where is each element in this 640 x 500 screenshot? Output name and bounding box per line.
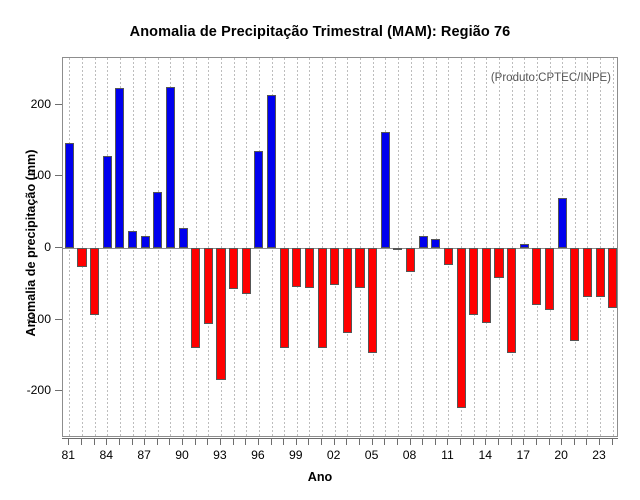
bar-1999 bbox=[292, 248, 301, 287]
bar-2022 bbox=[583, 248, 592, 297]
x-tick bbox=[308, 438, 309, 445]
gridline bbox=[82, 58, 83, 436]
bar-2000 bbox=[305, 248, 314, 288]
y-axis-label: Anomalia de precipitação (mm) bbox=[24, 108, 38, 378]
x-tick bbox=[132, 438, 133, 445]
x-tick bbox=[144, 438, 145, 445]
gridline bbox=[575, 58, 576, 436]
x-tick-label: 93 bbox=[213, 448, 227, 462]
x-tick bbox=[422, 438, 423, 445]
bar-1985 bbox=[115, 88, 124, 248]
chart-root: Anomalia de Precipitação Trimestral (MAM… bbox=[0, 0, 640, 500]
x-tick bbox=[334, 438, 335, 445]
y-tick-label: -100 bbox=[27, 312, 51, 326]
x-tick bbox=[498, 438, 499, 445]
x-tick bbox=[233, 438, 234, 445]
bar-2019 bbox=[545, 248, 554, 310]
gridline bbox=[309, 58, 310, 436]
bar-1989 bbox=[166, 87, 175, 248]
bar-1998 bbox=[280, 248, 289, 348]
bar-1997 bbox=[267, 95, 276, 248]
gridline bbox=[322, 58, 323, 436]
bar-2007 bbox=[393, 248, 402, 250]
gridline bbox=[600, 58, 601, 436]
x-tick bbox=[182, 438, 183, 445]
y-tick-label: 200 bbox=[31, 97, 51, 111]
x-tick bbox=[485, 438, 486, 445]
gridline bbox=[512, 58, 513, 436]
bar-1984 bbox=[103, 156, 112, 248]
gridline bbox=[234, 58, 235, 436]
gridline bbox=[486, 58, 487, 436]
gridline bbox=[537, 58, 538, 436]
x-tick bbox=[460, 438, 461, 445]
x-tick bbox=[245, 438, 246, 445]
bar-2003 bbox=[343, 248, 352, 333]
x-tick bbox=[157, 438, 158, 445]
x-tick bbox=[359, 438, 360, 445]
y-tick-label: -200 bbox=[27, 383, 51, 397]
gridline bbox=[196, 58, 197, 436]
gridline bbox=[297, 58, 298, 436]
x-tick-label: 87 bbox=[137, 448, 151, 462]
x-tick-label: 96 bbox=[251, 448, 265, 462]
x-tick-label: 99 bbox=[289, 448, 303, 462]
bar-2008 bbox=[406, 248, 415, 272]
source-annotation: (Produto:CPTEC/INPE) bbox=[491, 72, 611, 84]
y-tick bbox=[55, 104, 62, 105]
x-tick bbox=[410, 438, 411, 445]
bar-1991 bbox=[191, 248, 200, 348]
x-tick bbox=[296, 438, 297, 445]
x-tick-label: 17 bbox=[516, 448, 530, 462]
x-tick bbox=[435, 438, 436, 445]
bar-1995 bbox=[242, 248, 251, 294]
bar-2012 bbox=[457, 248, 466, 408]
bar-2004 bbox=[355, 248, 364, 288]
x-tick bbox=[258, 438, 259, 445]
bar-2014 bbox=[482, 248, 491, 323]
x-tick bbox=[169, 438, 170, 445]
x-tick bbox=[195, 438, 196, 445]
y-tick bbox=[55, 247, 62, 248]
gridline bbox=[335, 58, 336, 436]
bar-2001 bbox=[318, 248, 327, 348]
x-tick bbox=[119, 438, 120, 445]
bar-2021 bbox=[570, 248, 579, 341]
x-tick bbox=[207, 438, 208, 445]
gridline bbox=[398, 58, 399, 436]
bar-2018 bbox=[532, 248, 541, 305]
gridline bbox=[284, 58, 285, 436]
y-tick-label: 0 bbox=[44, 240, 51, 254]
bar-2020 bbox=[558, 198, 567, 248]
x-tick bbox=[447, 438, 448, 445]
bar-2006 bbox=[381, 132, 390, 248]
x-tick-label: 05 bbox=[365, 448, 379, 462]
gridline bbox=[587, 58, 588, 436]
x-tick bbox=[106, 438, 107, 445]
x-tick bbox=[283, 438, 284, 445]
bar-2023 bbox=[596, 248, 605, 297]
gridline bbox=[613, 58, 614, 436]
bar-1990 bbox=[179, 228, 188, 248]
gridline bbox=[550, 58, 551, 436]
bar-1996 bbox=[254, 151, 263, 248]
gridline bbox=[360, 58, 361, 436]
bar-1983 bbox=[90, 248, 99, 315]
bar-1994 bbox=[229, 248, 238, 289]
plot-area: (Produto:CPTEC/INPE) bbox=[62, 57, 618, 437]
x-tick bbox=[473, 438, 474, 445]
gridline bbox=[499, 58, 500, 436]
x-tick bbox=[68, 438, 69, 445]
gridline bbox=[208, 58, 209, 436]
x-tick bbox=[549, 438, 550, 445]
bar-2024 bbox=[608, 248, 617, 308]
x-tick bbox=[94, 438, 95, 445]
bar-1992 bbox=[204, 248, 213, 324]
bar-2009 bbox=[419, 236, 428, 248]
gridline bbox=[373, 58, 374, 436]
x-tick bbox=[81, 438, 82, 445]
x-axis-line bbox=[62, 438, 618, 439]
bar-2005 bbox=[368, 248, 377, 353]
x-tick-label: 08 bbox=[403, 448, 417, 462]
x-tick-label: 23 bbox=[592, 448, 606, 462]
gridline bbox=[411, 58, 412, 436]
x-tick bbox=[574, 438, 575, 445]
y-tick bbox=[55, 175, 62, 176]
x-tick-label: 11 bbox=[441, 448, 454, 462]
x-tick bbox=[220, 438, 221, 445]
x-tick bbox=[271, 438, 272, 445]
bar-1987 bbox=[141, 236, 150, 248]
bar-2011 bbox=[444, 248, 453, 265]
gridline bbox=[448, 58, 449, 436]
page-title: Anomalia de Precipitação Trimestral (MAM… bbox=[0, 24, 640, 40]
x-tick bbox=[586, 438, 587, 445]
x-tick bbox=[397, 438, 398, 445]
x-tick bbox=[346, 438, 347, 445]
x-tick-label: 02 bbox=[327, 448, 341, 462]
bar-1981 bbox=[65, 143, 74, 248]
bar-2017 bbox=[520, 244, 529, 248]
gridline bbox=[95, 58, 96, 436]
bar-2010 bbox=[431, 239, 440, 248]
y-tick bbox=[55, 319, 62, 320]
x-axis-label: Ano bbox=[0, 470, 640, 484]
x-tick-label: 81 bbox=[62, 448, 76, 462]
x-tick-label: 90 bbox=[175, 448, 189, 462]
x-tick bbox=[372, 438, 373, 445]
bar-1993 bbox=[216, 248, 225, 380]
gridline bbox=[347, 58, 348, 436]
x-tick bbox=[523, 438, 524, 445]
bar-2015 bbox=[494, 248, 503, 278]
bar-2016 bbox=[507, 248, 516, 353]
gridline bbox=[474, 58, 475, 436]
x-tick-label: 84 bbox=[99, 448, 113, 462]
x-tick-label: 20 bbox=[554, 448, 568, 462]
x-tick bbox=[511, 438, 512, 445]
x-tick bbox=[561, 438, 562, 445]
x-tick bbox=[612, 438, 613, 445]
bar-1988 bbox=[153, 192, 162, 248]
gridline bbox=[246, 58, 247, 436]
x-tick bbox=[384, 438, 385, 445]
bar-2002 bbox=[330, 248, 339, 285]
y-tick-label: 100 bbox=[31, 168, 51, 182]
x-tick-label: 14 bbox=[479, 448, 493, 462]
bar-2013 bbox=[469, 248, 478, 315]
y-tick bbox=[55, 390, 62, 391]
bar-1986 bbox=[128, 231, 137, 248]
x-tick bbox=[536, 438, 537, 445]
x-tick bbox=[321, 438, 322, 445]
bar-1982 bbox=[77, 248, 86, 267]
x-tick bbox=[599, 438, 600, 445]
